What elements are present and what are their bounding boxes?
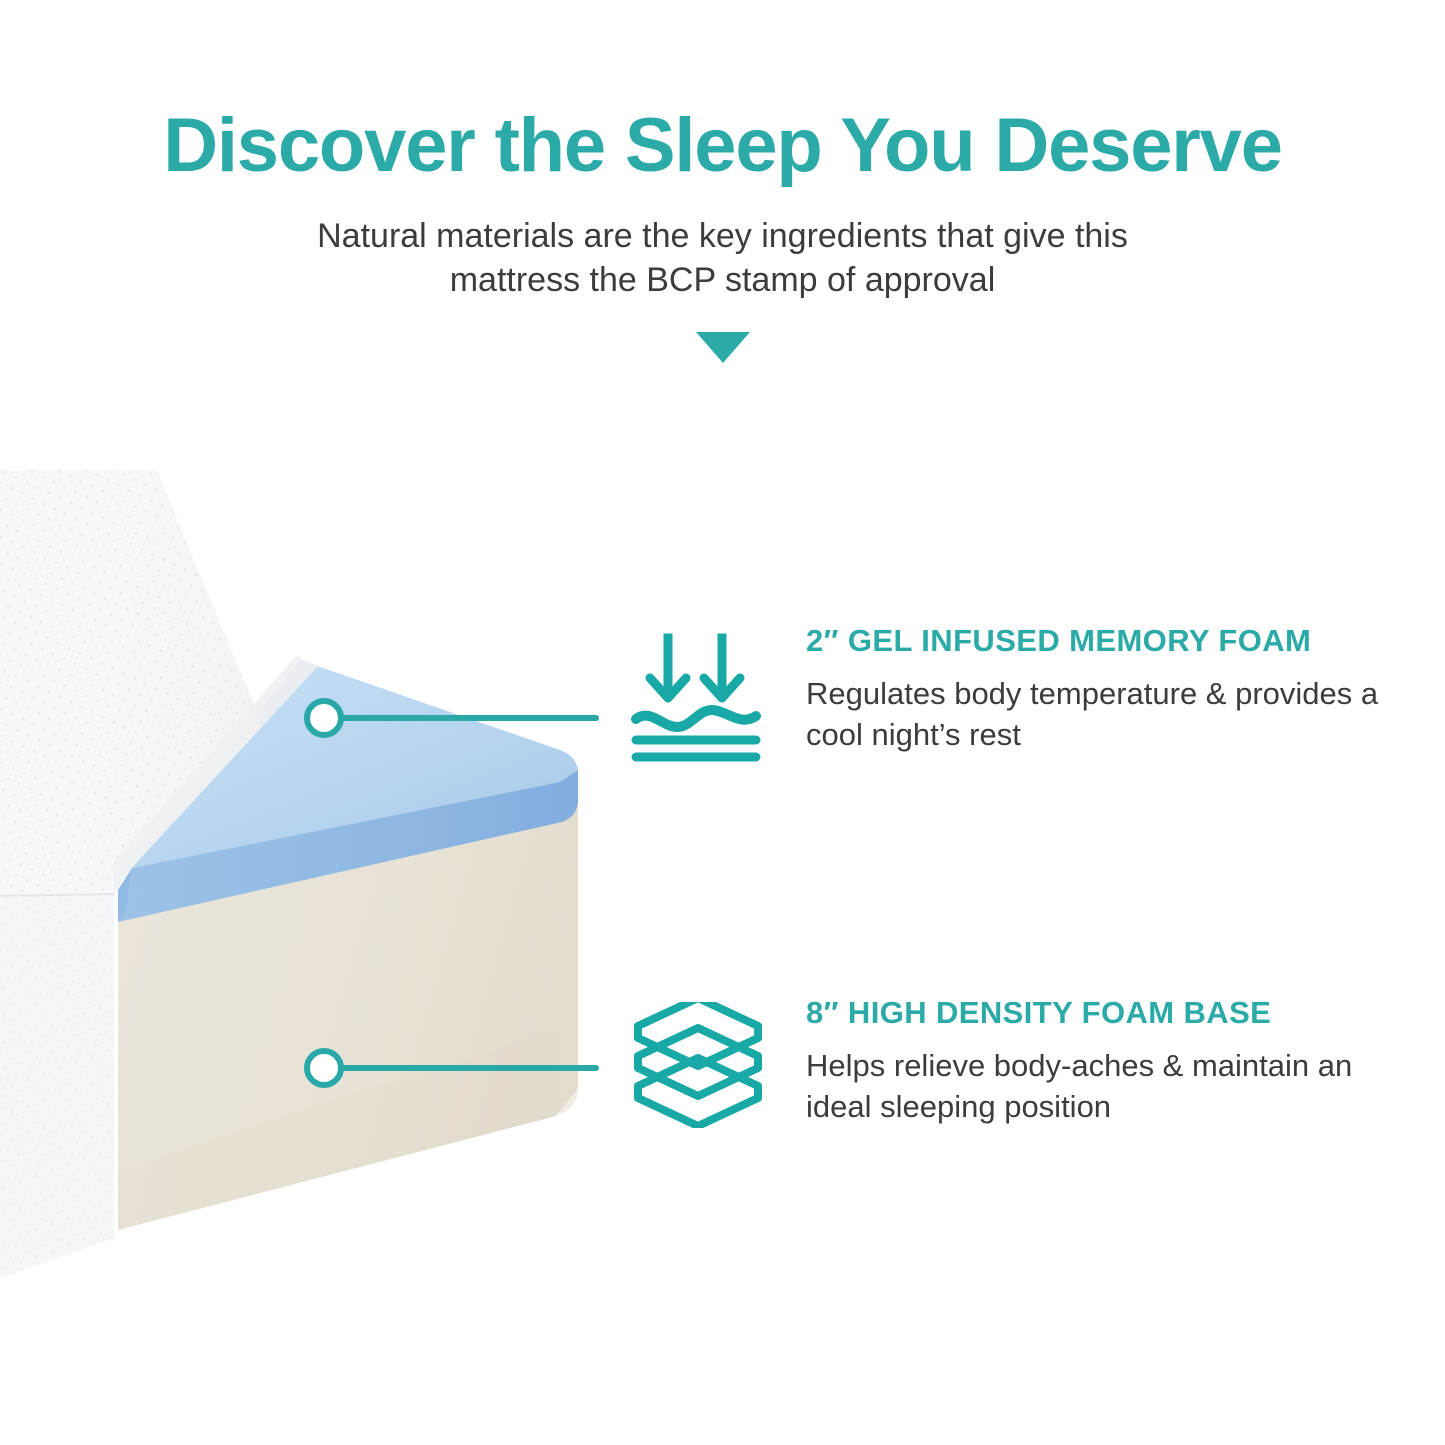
callout-high-density-foam-base [300,1046,600,1090]
feature-icon-wrapper [630,996,780,1128]
infographic-page: Discover the Sleep You Deserve Natural m… [0,0,1445,1445]
page-title: Discover the Sleep You Deserve [0,0,1445,184]
callout-dot [307,1051,341,1085]
stacked-layers-icon [630,1002,766,1128]
pressure-arrows-wave-icon [630,630,766,762]
header: Discover the Sleep You Deserve Natural m… [0,0,1445,302]
feature-high-density-foam-base: 8″ HIGH DENSITY FOAM BASE Helps relieve … [630,996,1420,1128]
callout-gel-infused-memory-foam [300,696,600,740]
feature-text-wrapper: 2″ GEL INFUSED MEMORY FOAM Regulates bod… [780,624,1420,756]
feature-description-gel-infused-memory-foam: Regulates body temperature & provides a … [806,658,1420,756]
feature-title-gel-infused-memory-foam: 2″ GEL INFUSED MEMORY FOAM [806,624,1420,658]
page-subtitle: Natural materials are the key ingredient… [293,184,1153,302]
feature-description-high-density-foam-base: Helps relieve body-aches & maintain an i… [806,1030,1420,1128]
feature-title-high-density-foam-base: 8″ HIGH DENSITY FOAM BASE [806,996,1420,1030]
chevron-down-icon [696,332,750,364]
chevron-down-icon-wrapper [0,332,1445,364]
callout-dot [307,701,341,735]
feature-gel-infused-memory-foam: 2″ GEL INFUSED MEMORY FOAM Regulates bod… [630,624,1420,762]
feature-icon-wrapper [630,624,780,762]
feature-text-wrapper: 8″ HIGH DENSITY FOAM BASE Helps relieve … [780,996,1420,1128]
mattress-cutaway-illustration [0,470,640,1445]
